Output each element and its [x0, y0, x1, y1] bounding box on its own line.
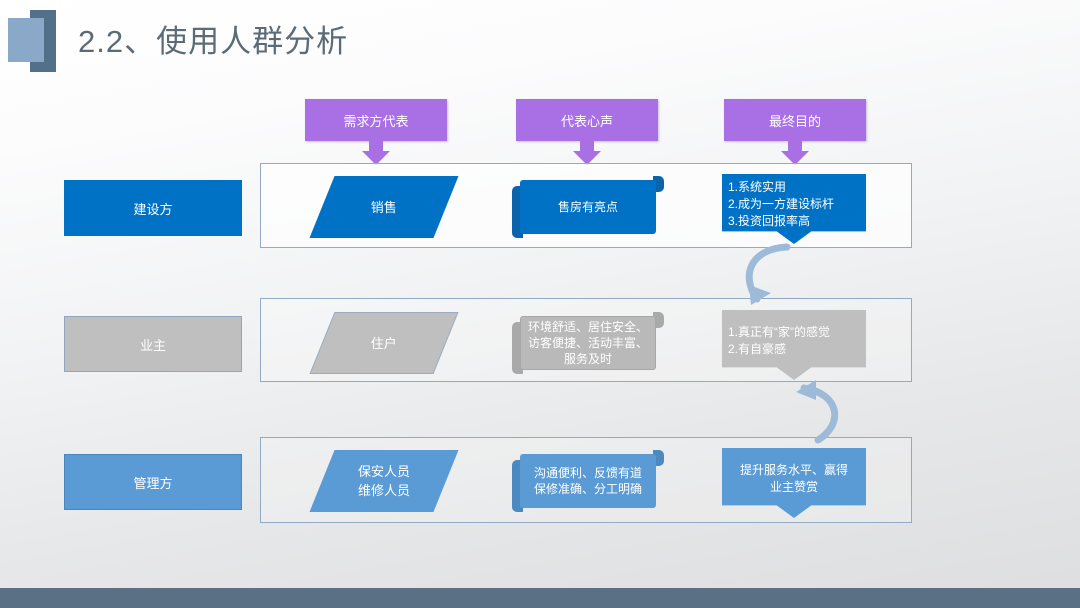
- goal-label-owner: 1.真正有“家”的感觉 2.有自豪感: [728, 324, 860, 358]
- voice-scroll-owner[interactable]: 环境舒适、居住安全、 访客便捷、活动丰富、 服务及时: [512, 312, 664, 374]
- column-header-voice[interactable]: 代表心声: [516, 99, 658, 141]
- role-shape-staff[interactable]: 保安人员 维修人员: [309, 450, 458, 512]
- voice-owner-line1: 环境舒适、居住安全、: [528, 320, 648, 334]
- column-arrow-stem-2: [580, 141, 594, 151]
- column-arrow-stem-1: [369, 141, 383, 151]
- actor-label-builder[interactable]: 建设方: [64, 180, 242, 236]
- goal-builder-line3: 3.投资回报率高: [728, 214, 810, 228]
- slide-canvas: 2.2、使用人群分析 需求方代表 代表心声 最终目的 建设方 业主 管理方 销售…: [0, 0, 1080, 608]
- voice-label-management: 沟通便利、反馈有道 保修准确、分工明确: [520, 454, 656, 508]
- goal-label-management: 提升服务水平、赢得 业主赞赏: [728, 462, 860, 496]
- column-header-demand-rep[interactable]: 需求方代表: [305, 99, 447, 141]
- role-label-staff-line1: 保安人员: [358, 464, 410, 479]
- goal-management-line2: 业主赞赏: [770, 480, 818, 494]
- voice-scroll-management[interactable]: 沟通便利、反馈有道 保修准确、分工明确: [512, 450, 664, 512]
- footer-bar: [0, 588, 1080, 608]
- actor-label-owner[interactable]: 业主: [64, 316, 242, 372]
- role-label-staff-line2: 维修人员: [358, 483, 410, 498]
- goal-builder-line1: 1.系统实用: [728, 180, 786, 194]
- role-label-sales: 销售: [371, 198, 397, 217]
- role-shape-sales[interactable]: 销售: [309, 176, 458, 238]
- page-title: 2.2、使用人群分析: [78, 16, 348, 61]
- goal-label-builder: 1.系统实用 2.成为一方建设标杆 3.投资回报率高: [728, 179, 860, 230]
- role-label-resident: 住户: [371, 334, 397, 353]
- voice-owner-line3: 服务及时: [564, 352, 612, 366]
- voice-label-owner: 环境舒适、居住安全、 访客便捷、活动丰富、 服务及时: [520, 316, 656, 370]
- logo-square-front: [8, 18, 44, 62]
- column-arrow-stem-3: [788, 141, 802, 151]
- role-label-staff: 保安人员 维修人员: [358, 462, 410, 500]
- column-header-goal[interactable]: 最终目的: [724, 99, 866, 141]
- actor-label-management[interactable]: 管理方: [64, 454, 242, 510]
- goal-owner-line1: 1.真正有“家”的感觉: [728, 325, 830, 339]
- voice-label-builder: 售房有亮点: [520, 180, 656, 234]
- role-shape-resident[interactable]: 住户: [309, 312, 458, 374]
- goal-owner-line2: 2.有自豪感: [728, 342, 786, 356]
- goal-management-line1: 提升服务水平、赢得: [740, 463, 848, 477]
- voice-owner-line2: 访客便捷、活动丰富、: [528, 336, 648, 350]
- voice-management-line2: 保修准确、分工明确: [534, 482, 642, 496]
- goal-builder-line2: 2.成为一方建设标杆: [728, 197, 834, 211]
- voice-management-line1: 沟通便利、反馈有道: [534, 466, 642, 480]
- logo-mark: [8, 10, 62, 72]
- voice-scroll-builder[interactable]: 售房有亮点: [512, 176, 664, 238]
